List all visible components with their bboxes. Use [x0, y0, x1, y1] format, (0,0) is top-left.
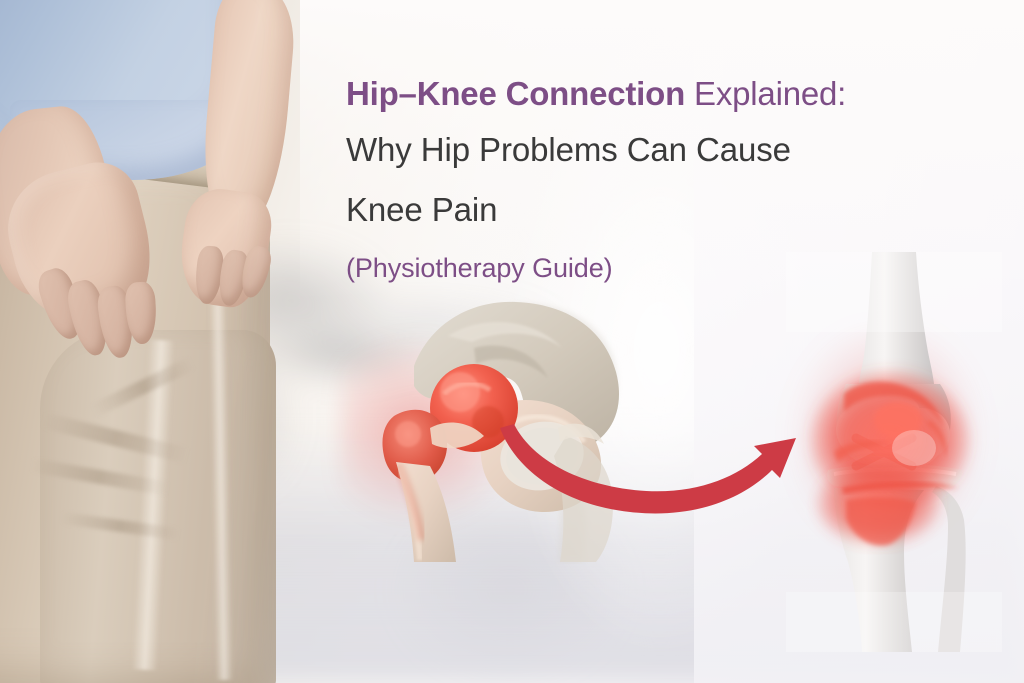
headline-block: Hip–Knee Connection Explained: Why Hip P… — [346, 68, 1006, 296]
headline-line-3: Knee Pain — [346, 180, 1006, 240]
headline-emphasis: Hip–Knee Connection — [346, 75, 685, 112]
arrow-shape — [500, 424, 796, 513]
headline-line-1: Hip–Knee Connection Explained: — [346, 68, 1006, 120]
headline-subtitle: (Physiotherapy Guide) — [346, 240, 1006, 296]
hip-to-knee-arrow — [480, 408, 820, 558]
headline-line-1-rest: Explained: — [685, 75, 846, 112]
inflammation-overlay — [810, 370, 970, 546]
headline-line-2: Why Hip Problems Can Cause — [346, 120, 1006, 180]
arrow-svg — [480, 408, 820, 558]
hip-knee-banner: Hip–Knee Connection Explained: Why Hip P… — [0, 0, 1024, 683]
